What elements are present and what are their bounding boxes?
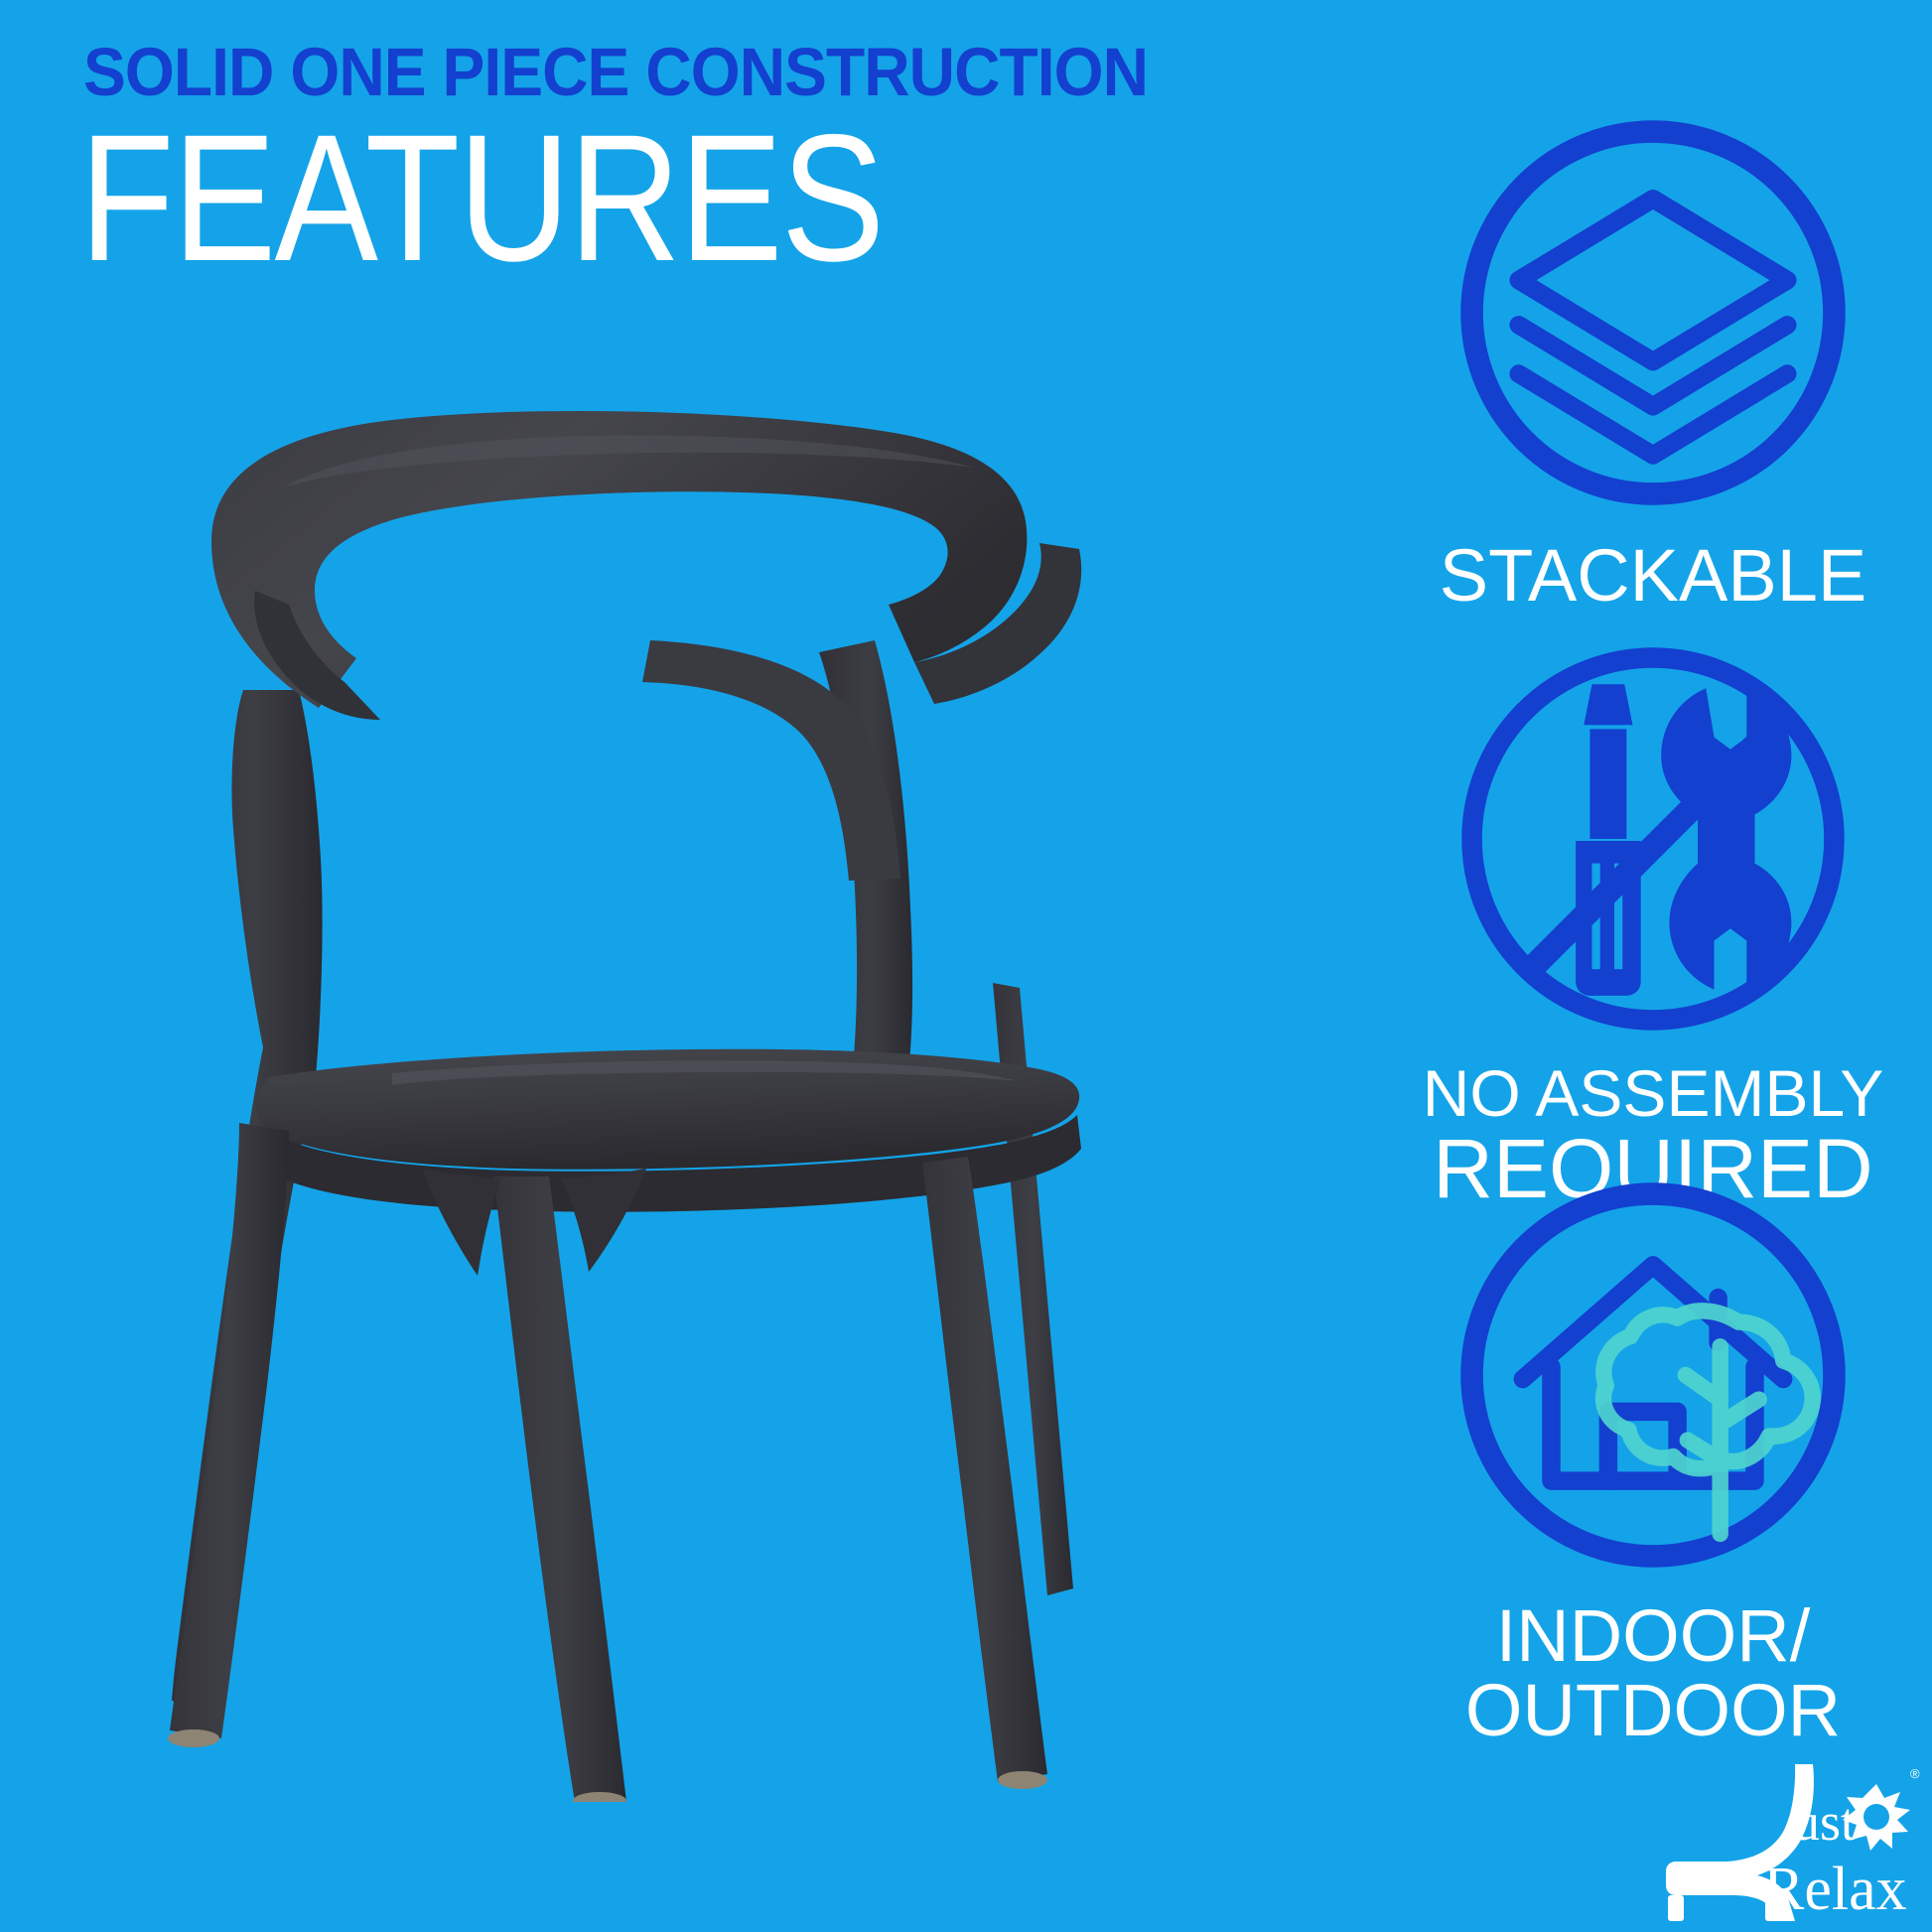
page-title: FEATURES [79, 107, 884, 288]
brand-logo-just-relax: ust ® Relax [1646, 1762, 1924, 1926]
product-chair-image [94, 392, 1107, 1802]
feature-item-indoor-outdoor: INDOOR/ OUTDOOR [1405, 1172, 1901, 1748]
feature-item-stackable: STACKABLE [1405, 109, 1901, 613]
feature-list: STACKABLE [1405, 89, 1901, 1777]
house-tree-icon [1449, 1172, 1857, 1579]
marketing-image-canvas: SOLID ONE PIECE CONSTRUCTION FEATURES [0, 0, 1932, 1932]
logo-word-ust: ust [1793, 1792, 1856, 1852]
feature-item-no-assembly: NO ASSEMBLY REQUIRED [1405, 635, 1901, 1212]
feature-label-line1: NO ASSEMBLY [1405, 1060, 1901, 1127]
layers-stack-icon [1449, 109, 1857, 516]
feature-label-indoor-outdoor: INDOOR/ OUTDOOR [1405, 1598, 1901, 1748]
no-tools-icon [1449, 635, 1857, 1042]
feature-label-line2: OUTDOOR [1405, 1673, 1901, 1747]
logo-word-relax: Relax [1763, 1856, 1907, 1923]
feature-label-line1: INDOOR/ [1405, 1598, 1901, 1673]
logo-trademark: ® [1910, 1766, 1920, 1781]
feature-label-stackable: STACKABLE [1405, 538, 1901, 613]
feature-label-line1: STACKABLE [1405, 538, 1901, 613]
